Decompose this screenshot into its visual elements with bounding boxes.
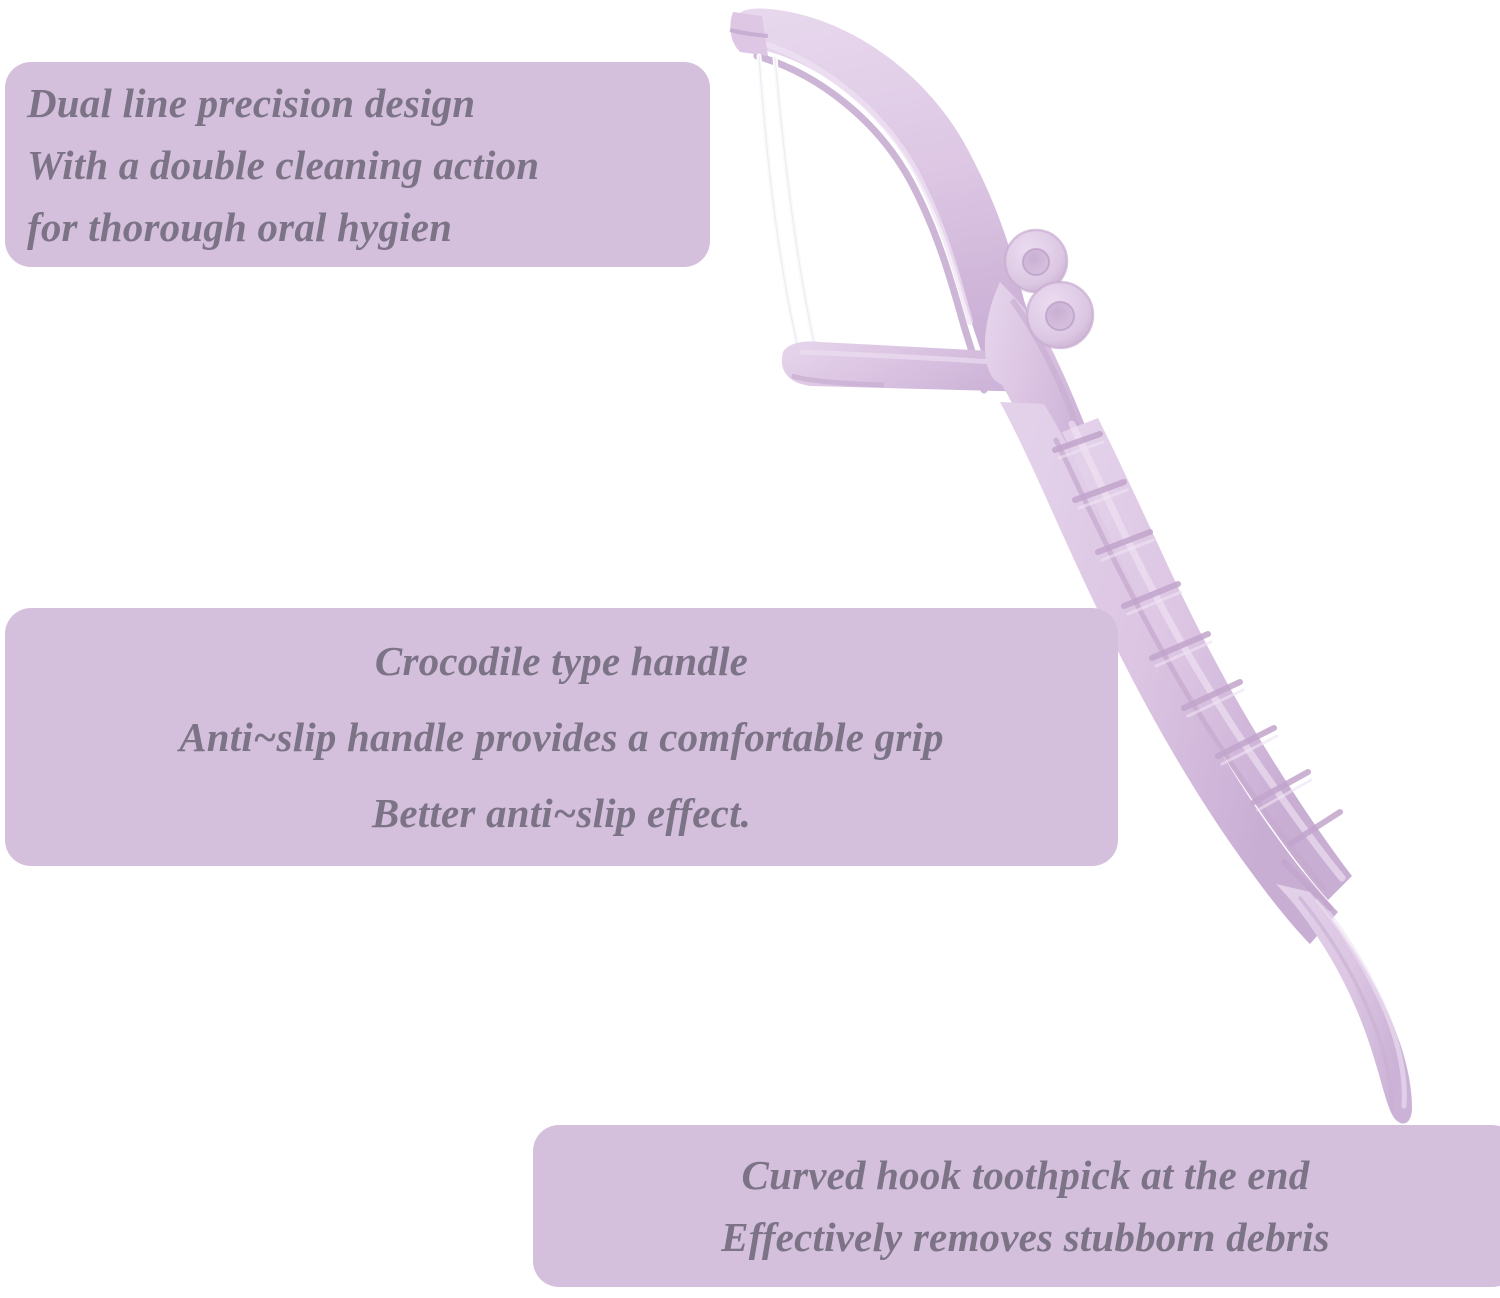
callout-crocodile-line-2: Anti~slip handle provides a comfortable …	[179, 699, 944, 775]
floss-strand-inner	[775, 58, 818, 360]
callout-crocodile-line-1: Crocodile type handle	[375, 623, 748, 699]
callout-curved-hook-line-2: Effectively removes stubborn debris	[721, 1206, 1330, 1268]
callout-dual-line-line-2: With a double cleaning action	[27, 134, 539, 196]
callout-curved-hook: Curved hook toothpick at the end Effecti…	[533, 1125, 1500, 1287]
pivot-ring-lower	[1027, 282, 1093, 348]
callout-crocodile: Crocodile type handle Anti~slip handle p…	[5, 608, 1118, 866]
callout-crocodile-line-3: Better anti~slip effect.	[372, 775, 751, 851]
callout-curved-hook-line-1: Curved hook toothpick at the end	[742, 1144, 1310, 1206]
curved-hook-toothpick	[1276, 862, 1412, 1124]
floss-strands	[759, 56, 818, 360]
callout-dual-line-line-1: Dual line precision design	[27, 72, 475, 134]
infographic-page: Dual line precision design With a double…	[0, 0, 1500, 1298]
callout-dual-line: Dual line precision design With a double…	[5, 62, 710, 267]
callout-dual-line-line-3: for thorough oral hygien	[27, 196, 452, 258]
